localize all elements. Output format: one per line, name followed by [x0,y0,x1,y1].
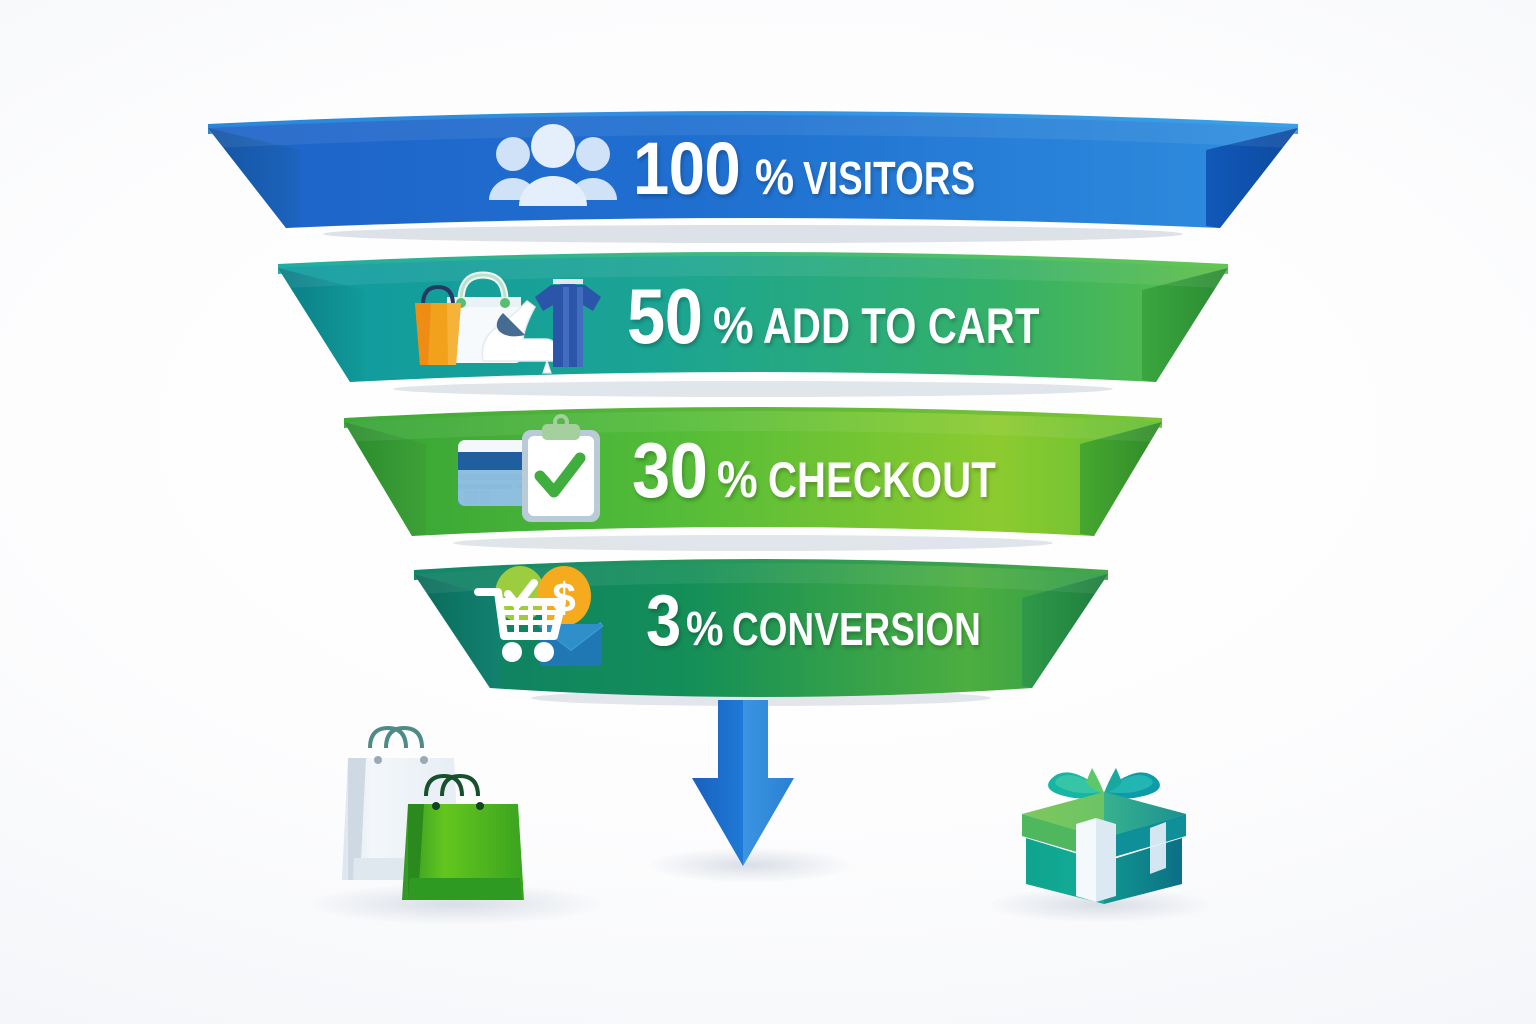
gift-box [1000,752,1210,912]
funnel-stage-conversion[interactable]: $ [408,556,1114,704]
funnel-stage-checkout[interactable]: 30 % CHECKOUT [338,404,1168,546]
shopping-bags-group [330,726,580,916]
funnel-stage-add-to-cart[interactable]: 50 % ADD TO CART [272,250,1234,392]
funnel-infographic: 100 % VISITORS [0,0,1536,1024]
funnel-stage-visitors[interactable]: 100 % VISITORS [200,108,1306,236]
down-arrow [686,700,800,872]
